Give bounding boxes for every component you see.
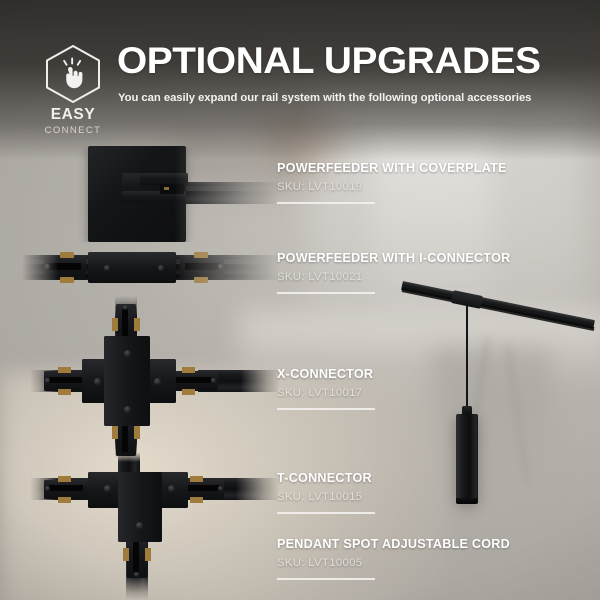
product-name: T-CONNECTOR [277, 472, 577, 486]
page-title: OPTIONAL UPGRADES [117, 41, 600, 80]
product-label-t-connector: T-CONNECTOR SKU: LVT10015 [277, 472, 577, 514]
product-sku: SKU: LVT10019 [277, 181, 577, 194]
label-divider [277, 512, 375, 514]
product-name: X-CONNECTOR [277, 368, 577, 382]
hand-tap-hexagon-icon [42, 44, 104, 104]
label-divider [277, 408, 375, 410]
infographic-canvas: EASY CONNECT OPTIONAL UPGRADES You can e… [0, 0, 600, 600]
product-label-x-connector: X-CONNECTOR SKU: LVT10017 [277, 368, 577, 410]
brand-name-easy: EASY [36, 107, 110, 123]
brand-logo: EASY CONNECT [36, 44, 110, 135]
product-label-pendant-spot: PENDANT SPOT ADJUSTABLE CORD SKU: LVT100… [277, 538, 577, 580]
page-subtitle: You can easily expand our rail system wi… [118, 92, 598, 104]
product-name: PENDANT SPOT ADJUSTABLE CORD [277, 538, 577, 552]
product-sku: SKU: LVT10017 [277, 387, 577, 400]
powerfeeder-coverplate-image [60, 146, 280, 242]
label-divider [277, 578, 375, 580]
product-sku: SKU: LVT10005 [277, 557, 577, 570]
product-sku: SKU: LVT10015 [277, 491, 577, 504]
label-divider [277, 202, 375, 204]
t-connector-image [30, 452, 280, 600]
product-name: POWERFEEDER WITH COVERPLATE [277, 162, 577, 176]
product-label-powerfeeder-coverplate: POWERFEEDER WITH COVERPLATE SKU: LVT1001… [277, 162, 577, 204]
product-name: POWERFEEDER WITH I-CONNECTOR [277, 252, 577, 266]
powerfeeder-i-connector-image [22, 246, 280, 288]
x-connector-image [30, 296, 280, 458]
label-divider [277, 292, 375, 294]
brand-name-connect: CONNECT [36, 126, 110, 136]
product-sku: SKU: LVT10021 [277, 271, 577, 284]
product-label-powerfeeder-i-connector: POWERFEEDER WITH I-CONNECTOR SKU: LVT100… [277, 252, 577, 294]
